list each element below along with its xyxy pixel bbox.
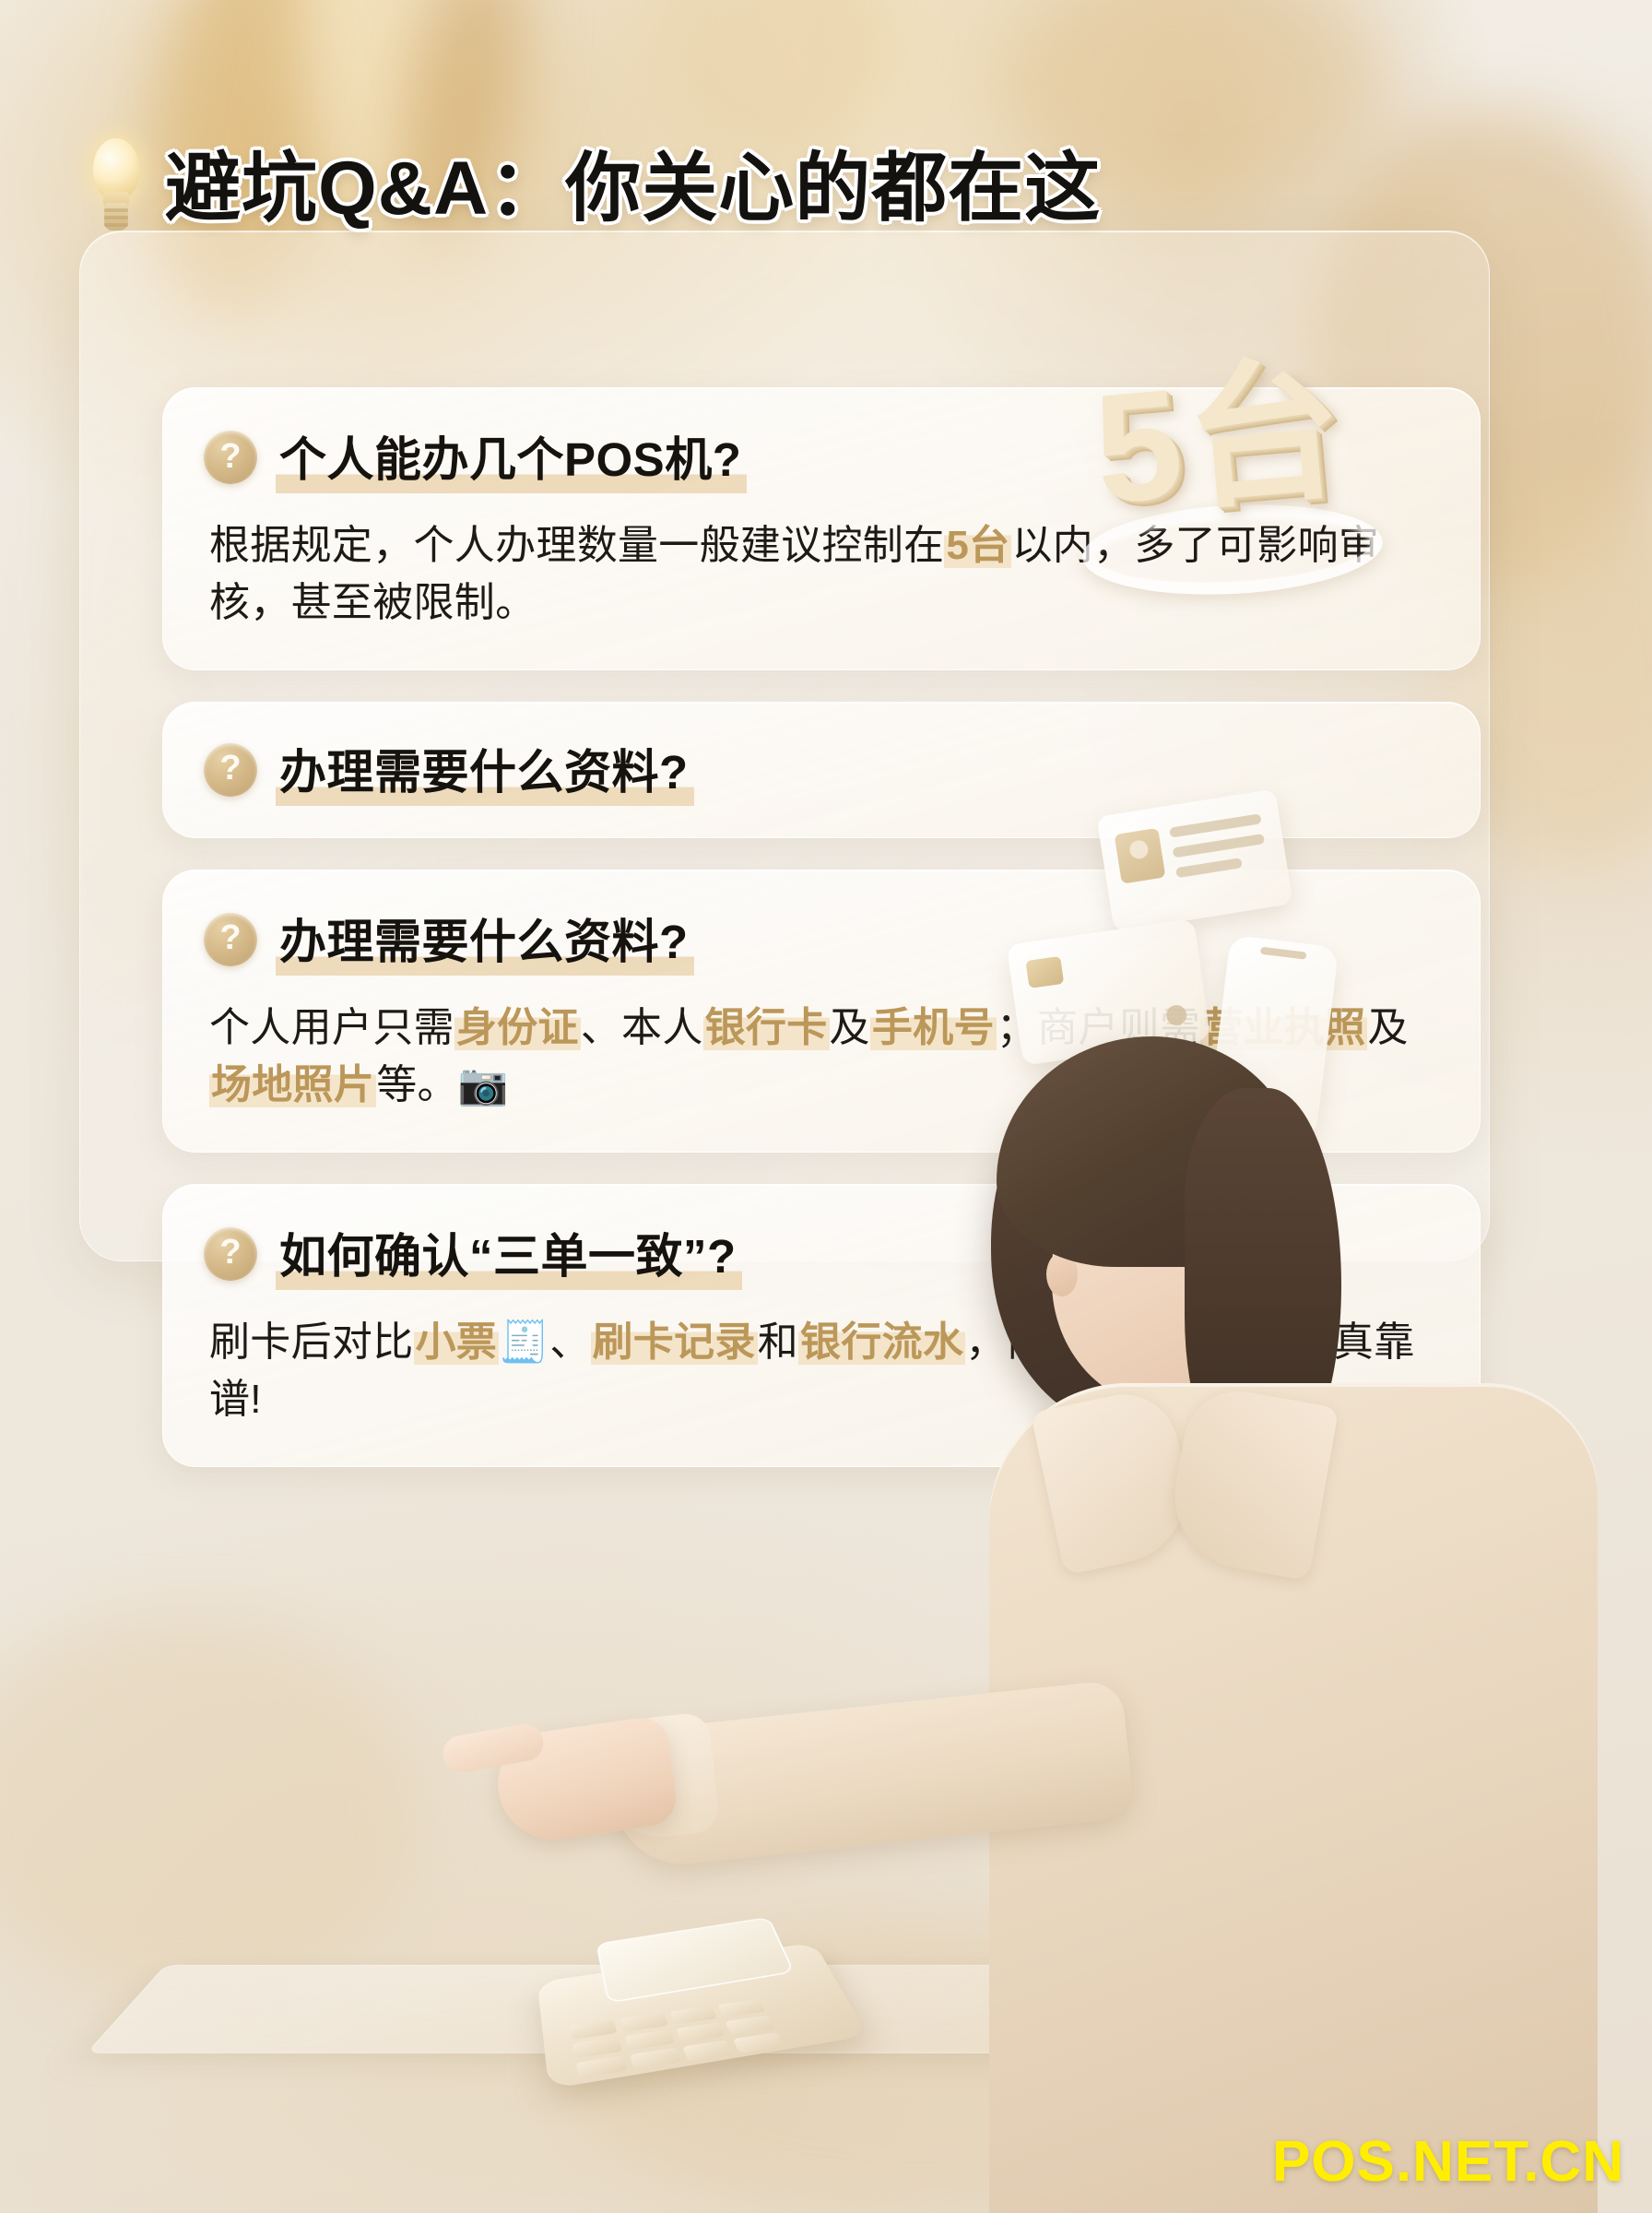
- highlighted-term: 银行流水: [798, 1320, 965, 1365]
- highlighted-term: 营业执照: [1200, 1005, 1367, 1050]
- question-text: 办理需要什么资料?: [276, 904, 694, 976]
- question-row: ? 办理需要什么资料?: [204, 734, 1439, 806]
- highlighted-term: 场地照片: [209, 1062, 376, 1107]
- answer-segment: ；商户则需: [997, 1005, 1201, 1050]
- answer-segment: 等。📷: [376, 1062, 509, 1107]
- lightbulb-icon: [88, 138, 145, 240]
- highlighted-term: 手机号: [870, 1005, 997, 1050]
- qa-card-list: ? 个人能办几个POS机? 根据规定，个人办理数量一般建议控制在5台以内，多了可…: [162, 387, 1481, 1498]
- answer-segment: 及: [1367, 1005, 1408, 1050]
- qa-card[interactable]: ? 个人能办几个POS机? 根据规定，个人办理数量一般建议控制在5台以内，多了可…: [162, 387, 1481, 670]
- background-blob: [572, 1918, 1272, 2213]
- lightbulb-glass: [93, 138, 139, 199]
- question-mark-icon: ?: [204, 743, 257, 797]
- answer-segment: 🧾、: [499, 1320, 590, 1365]
- answer-text: 刷卡后对比小票🧾、刷卡记录和银行流水，商户名对得上才是真靠谱!: [209, 1314, 1439, 1429]
- question-text: 如何确认“三单一致”?: [276, 1218, 742, 1290]
- highlighted-term: 身份证: [454, 1005, 581, 1050]
- page-title: 避坑Q&A：你关心的都在这: [165, 151, 1101, 227]
- answer-text: 根据规定，个人办理数量一般建议控制在5台以内，多了可影响审核，甚至被限制。: [209, 517, 1439, 633]
- question-row: ? 办理需要什么资料?: [204, 904, 1439, 976]
- answer-segment: 、本人: [581, 1005, 703, 1050]
- answer-segment: 个人用户只需: [209, 1005, 454, 1050]
- question-text: 个人能办几个POS机?: [276, 421, 747, 493]
- answer-segment: 根据规定，个人办理数量一般建议控制在: [209, 523, 944, 568]
- answer-text: 个人用户只需身份证、本人银行卡及手机号；商户则需营业执照及场地照片等。📷: [209, 1000, 1439, 1115]
- question-mark-icon: ?: [204, 913, 257, 966]
- lightbulb-ring: [104, 216, 128, 219]
- question-mark-icon: ?: [204, 1227, 257, 1281]
- highlighted-term: 刷卡记录: [591, 1320, 758, 1365]
- lightbulb-ring: [104, 208, 128, 212]
- highlighted-term: 银行卡: [703, 1005, 830, 1050]
- question-text: 办理需要什么资料?: [276, 734, 694, 806]
- page-header: 避坑Q&A：你关心的都在这: [0, 0, 1652, 258]
- lightbulb-ring: [104, 223, 128, 227]
- question-mark-icon: ?: [204, 431, 257, 484]
- qa-card[interactable]: ? 办理需要什么资料? 个人用户只需身份证、本人银行卡及手机号；商户则需营业执照…: [162, 870, 1481, 1153]
- qa-card[interactable]: ? 办理需要什么资料?: [162, 702, 1481, 838]
- glass-panel-stand: [87, 1965, 1177, 2053]
- highlighted-term: 5台: [944, 523, 1011, 568]
- answer-segment: 及: [830, 1005, 870, 1050]
- answer-segment: 刷卡后对比: [209, 1320, 414, 1365]
- question-row: ? 个人能办几个POS机?: [204, 421, 1439, 493]
- answer-segment: 和: [758, 1320, 798, 1365]
- qa-card[interactable]: ? 如何确认“三单一致”? 刷卡后对比小票🧾、刷卡记录和银行流水，商户名对得上才…: [162, 1184, 1481, 1467]
- highlighted-term: 小票: [414, 1320, 500, 1365]
- question-row: ? 如何确认“三单一致”?: [204, 1218, 1439, 1290]
- title-row: 避坑Q&A：你关心的都在这: [88, 138, 1101, 240]
- watermark: POS.NET.CN: [1272, 2134, 1624, 2191]
